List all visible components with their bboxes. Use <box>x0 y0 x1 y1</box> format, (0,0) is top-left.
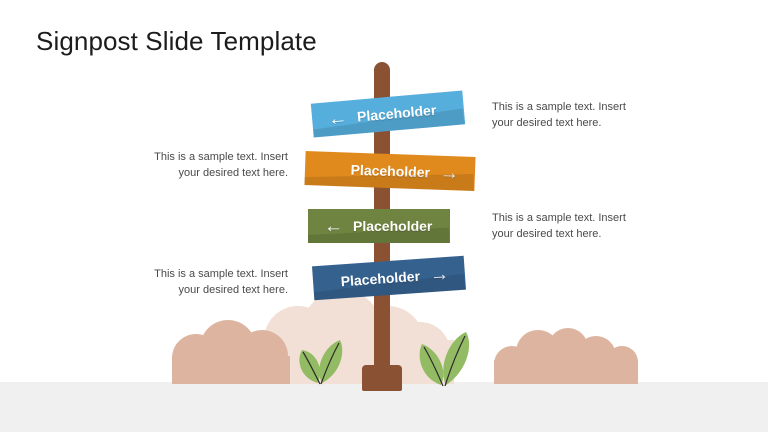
sample-text-4: This is a sample text. Insert your desir… <box>136 267 288 299</box>
sign-label-3: Placeholder <box>353 218 432 234</box>
slide-canvas: Signpost Slide Template <box>0 0 768 432</box>
arrow-left-icon: ← <box>324 217 343 236</box>
sign-label-2: Placeholder <box>350 162 430 181</box>
sprout-left-icon <box>299 340 342 384</box>
signpost-base <box>362 365 402 391</box>
page-title: Signpost Slide Template <box>36 26 317 57</box>
sprout-right-icon <box>420 332 469 386</box>
sample-text-3: This is a sample text. Insert your desir… <box>492 211 644 243</box>
bush-front-left-icon <box>172 320 290 384</box>
sign-board-3[interactable]: ← Placeholder <box>308 209 450 243</box>
bush-back-left-icon <box>264 290 454 384</box>
arrow-left-icon: ← <box>327 108 348 129</box>
arrow-right-icon: → <box>440 163 460 183</box>
sign-label-1: Placeholder <box>356 102 436 125</box>
sign-board-4[interactable]: Placeholder → <box>312 256 466 301</box>
arrow-right-icon: → <box>429 264 449 284</box>
bush-front-right-icon <box>494 328 638 384</box>
sign-board-2[interactable]: Placeholder → <box>304 151 475 191</box>
sign-board-1[interactable]: ← Placeholder <box>311 90 465 137</box>
sample-text-1: This is a sample text. Insert your desir… <box>492 100 644 132</box>
sample-text-2: This is a sample text. Insert your desir… <box>136 150 288 182</box>
sign-label-4: Placeholder <box>340 268 420 289</box>
